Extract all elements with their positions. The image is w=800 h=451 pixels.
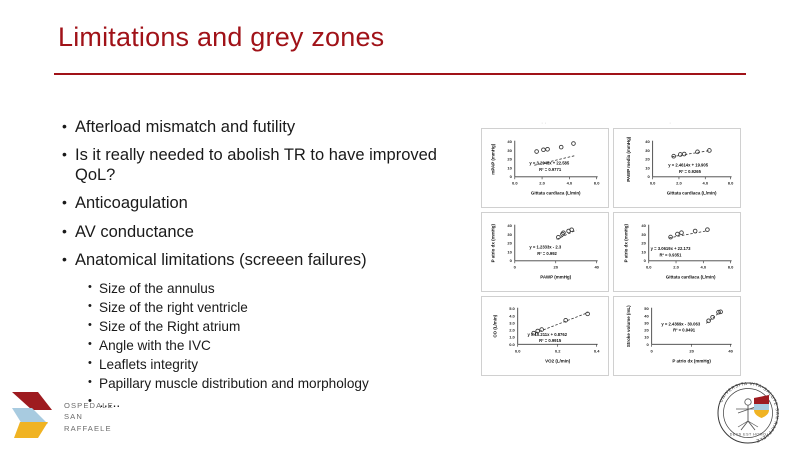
sub-list-item: • Leaflets integrity <box>88 356 462 374</box>
chart-panel-sv-vs-pad: 50 40 30 20 10 0 0 20 40 <box>613 296 741 376</box>
r-squared-label: R² = 0.992 <box>537 251 557 256</box>
sub-bullet-dot-icon: • <box>88 337 99 352</box>
y-tick: 40 <box>644 313 649 318</box>
y-tick: 30 <box>507 148 512 153</box>
x-tick: 0 <box>514 265 517 270</box>
chart-svg: 5.0 4.0 3.0 2.0 1.0 0.0 0.0 0.2 0.4 <box>482 297 608 375</box>
sub-list-item: • ….. <box>88 394 462 412</box>
data-points <box>557 228 574 239</box>
y-tick: 20 <box>507 157 512 162</box>
x-axis-ticks: 0.0 2.0 4.0 6.0 <box>650 177 734 186</box>
bullet-text: Anatomical limitations (screeen failures… <box>75 251 462 270</box>
bullet-dot-icon: • <box>62 194 75 212</box>
x-tick: 6.0 <box>728 265 734 270</box>
y-tick: 30 <box>641 232 646 237</box>
bullet-text: Afterload mismatch and futility <box>75 118 462 137</box>
hospital-logo: OSPEDALE SAN RAFFAELE <box>8 386 132 442</box>
sub-list-item: • Papillary muscle distribution and morp… <box>88 375 462 393</box>
chart-svg: 40 30 20 10 0 0.0 2.0 4.0 6.0 <box>614 213 740 291</box>
data-points <box>669 228 710 239</box>
y-axis-label: PAWP media (mmHg) <box>626 136 631 182</box>
chart-panel-mpap-vs-co: 40 30 20 10 0 0.0 2.0 4.0 6.0 <box>481 128 609 208</box>
chart-grid: ·· · 40 30 20 10 0 0.0 2 <box>481 128 743 378</box>
chart-svg: 40 30 20 10 0 0 20 40 <box>482 213 608 291</box>
x-tick: 2.0 <box>673 265 679 270</box>
x-tick: 40 <box>594 265 599 270</box>
y-tick: 40 <box>507 223 512 228</box>
x-tick: 4.0 <box>703 181 709 186</box>
sub-bullet-dot-icon: • <box>88 356 99 371</box>
bullet-text: Anticoagulation <box>75 194 462 213</box>
data-points <box>707 310 723 323</box>
x-tick: 2.0 <box>676 181 682 186</box>
sub-bullet-text: Size of the annulus <box>99 280 215 298</box>
y-tick: 10 <box>507 249 512 254</box>
sub-bullet-text: Angle with the IVC <box>99 337 211 355</box>
y-axis-label: Stroke volume (mL) <box>626 305 631 347</box>
y-tick: 50 <box>644 306 649 311</box>
y-tick: 0 <box>647 342 650 347</box>
cropped-chart-remnant: · <box>669 120 672 127</box>
y-tick: 0.0 <box>509 342 515 347</box>
y-tick: 20 <box>645 157 650 162</box>
y-tick: 3.0 <box>509 320 515 325</box>
sub-bullet-dot-icon: • <box>88 318 99 333</box>
bullet-text: Is it really needed to abolish TR to hav… <box>75 146 462 185</box>
seal-motto: DEUS EST HOMO <box>730 433 767 437</box>
bullet-list: • Afterload mismatch and futility • Is i… <box>62 118 462 413</box>
x-axis-label: Gittata cardiaca (L/min) <box>531 190 581 195</box>
list-item: • Anticoagulation <box>62 194 462 213</box>
chart-panel-pad-vs-co: 40 30 20 10 0 0.0 2.0 4.0 6.0 <box>613 212 741 292</box>
x-tick: 0.0 <box>515 349 521 354</box>
equation-label: y = 3.2948x + 22.585 <box>529 161 569 166</box>
y-axis-label: P atrio dx (mmHg) <box>490 224 495 263</box>
x-axis-ticks: 0 20 40 <box>514 261 600 270</box>
y-axis-ticks: 50 40 30 20 10 0 <box>644 306 649 347</box>
sub-bullet-text: Leaflets integrity <box>99 356 198 374</box>
x-axis-ticks: 0.0 0.2 0.4 <box>515 344 600 353</box>
sub-bullet-list: • Size of the annulus • Size of the righ… <box>88 280 462 413</box>
sub-list-item: • Size of the annulus <box>88 280 462 298</box>
trendline <box>672 151 709 157</box>
title-divider <box>54 73 746 75</box>
data-points <box>535 142 576 154</box>
x-tick: 0.2 <box>555 349 561 354</box>
chart-panel-co-vs-vo2: 5.0 4.0 3.0 2.0 1.0 0.0 0.0 0.2 0.4 <box>481 296 609 376</box>
y-tick: 1.0 <box>509 335 515 340</box>
y-tick: 40 <box>641 223 646 228</box>
sub-list-item: • Size of the Right atrium <box>88 318 462 336</box>
y-axis-label: CO (L/min) <box>492 314 497 337</box>
chart-svg: 40 30 20 10 0 0.0 2.0 4.0 6.0 <box>614 129 740 207</box>
y-tick: 0 <box>510 174 513 179</box>
y-tick: 20 <box>644 328 649 333</box>
x-axis-label: PAWP (mmHg) <box>540 274 571 279</box>
x-axis-ticks: 0.0 2.0 4.0 6.0 <box>512 177 600 186</box>
university-seal-logo: UNIVERSITA VITA-SALUTE SAN RAFFAELE DEUS… <box>712 380 784 446</box>
list-item: • Afterload mismatch and futility <box>62 118 462 137</box>
x-tick: 2.0 <box>539 181 545 186</box>
x-tick: 0.0 <box>650 181 656 186</box>
y-axis-label: P atrio dx (mmHg) <box>623 224 628 263</box>
hospital-logo-line2: SAN RAFFAELE <box>64 411 132 434</box>
equation-label: y = 2.4614x + 19.905 <box>668 163 708 168</box>
x-tick: 0.0 <box>512 181 518 186</box>
page-title: Limitations and grey zones <box>58 22 384 53</box>
x-axis-label: Gittata cardiaca (L/min) <box>667 190 717 195</box>
y-axis-ticks: 40 30 20 10 0 <box>645 139 650 179</box>
y-axis-label: mPAP (mmHg) <box>490 143 495 174</box>
y-tick: 4.0 <box>509 313 515 318</box>
x-axis-label: P atrio dx (mmHg) <box>672 358 711 363</box>
y-axis-ticks: 40 30 20 10 0 <box>641 223 646 263</box>
chart-svg: 50 40 30 20 10 0 0 20 40 <box>614 297 740 375</box>
chart-panel-pad-vs-pawp: 40 30 20 10 0 0 20 40 <box>481 212 609 292</box>
y-tick: 20 <box>641 241 646 246</box>
sub-bullet-text: Papillary muscle distribution and morpho… <box>99 375 369 393</box>
x-tick: 20 <box>554 265 559 270</box>
chart-panel-pawp-vs-co: 40 30 20 10 0 0.0 2.0 4.0 6.0 <box>613 128 741 208</box>
university-seal-icon: UNIVERSITA VITA-SALUTE SAN RAFFAELE DEUS… <box>712 380 784 446</box>
equation-label: y = 1.2333x - 2.3 <box>529 245 561 250</box>
list-item: • AV conductance <box>62 223 462 242</box>
bullet-text: AV conductance <box>75 223 462 242</box>
y-tick: 5.0 <box>509 306 515 311</box>
x-tick: 6.0 <box>728 181 734 186</box>
y-tick: 10 <box>644 335 649 340</box>
x-tick: 6.0 <box>594 181 600 186</box>
r-squared-label: R² = 0.9915 <box>539 338 562 343</box>
sub-bullet-text: Size of the right ventricle <box>99 299 248 317</box>
y-axis-ticks: 40 30 20 10 0 <box>507 139 512 179</box>
y-tick: 0 <box>647 174 650 179</box>
trendline <box>669 231 707 238</box>
list-item: • Is it really needed to abolish TR to h… <box>62 146 462 185</box>
y-tick: 0 <box>510 258 513 263</box>
x-tick: 0.0 <box>646 265 652 270</box>
y-tick: 30 <box>507 232 512 237</box>
chart-svg: 40 30 20 10 0 0.0 2.0 4.0 6.0 <box>482 129 608 207</box>
bullet-dot-icon: • <box>62 223 75 241</box>
x-axis-label: Gittata cardiaca (L/min) <box>666 274 716 279</box>
x-axis-ticks: 0.0 2.0 4.0 6.0 <box>646 261 734 270</box>
x-axis-ticks: 0 20 40 <box>651 344 734 353</box>
cropped-chart-remnant: ·· <box>541 120 548 127</box>
x-tick: 0 <box>651 349 654 354</box>
x-tick: 0.4 <box>594 349 600 354</box>
sub-list-item: • Size of the right ventricle <box>88 299 462 317</box>
y-tick: 2.0 <box>509 328 515 333</box>
x-tick: 4.0 <box>567 181 573 186</box>
bullet-dot-icon: • <box>62 251 75 269</box>
sub-list-item: • Angle with the IVC <box>88 337 462 355</box>
y-tick: 40 <box>507 139 512 144</box>
sub-bullet-dot-icon: • <box>88 299 99 314</box>
y-tick: 30 <box>644 320 649 325</box>
y-tick: 30 <box>645 148 650 153</box>
equation-label: y = 10.211x + 0.8762 <box>527 332 567 337</box>
r-squared-label: R² = 0.9265 <box>679 169 702 174</box>
bullet-dot-icon: • <box>62 146 75 164</box>
y-tick: 10 <box>645 165 650 170</box>
equation-label: y = 2.4369x - 30.063 <box>661 321 700 326</box>
y-axis-ticks: 5.0 4.0 3.0 2.0 1.0 0.0 <box>509 306 515 347</box>
hospital-logo-line1: OSPEDALE <box>64 400 132 411</box>
x-tick: 40 <box>728 349 733 354</box>
sub-bullet-text: Size of the Right atrium <box>99 318 240 336</box>
y-tick: 40 <box>645 139 650 144</box>
y-tick: 0 <box>644 258 647 263</box>
y-tick: 10 <box>641 249 646 254</box>
equation-label: y = 3.0619x + 22.173 <box>651 246 691 251</box>
x-tick: 20 <box>689 349 694 354</box>
r-squared-label: R² = 0.9351 <box>659 252 682 257</box>
sub-bullet-dot-icon: • <box>88 280 99 295</box>
y-tick: 10 <box>507 165 512 170</box>
slide-canvas: Limitations and grey zones • Afterload m… <box>0 0 800 450</box>
hospital-logo-text: OSPEDALE SAN RAFFAELE <box>64 400 132 434</box>
r-squared-label: R² = 0.9771 <box>539 167 562 172</box>
y-tick: 20 <box>507 241 512 246</box>
r-squared-label: R² = 0.9491 <box>673 328 696 333</box>
x-tick: 4.0 <box>701 265 707 270</box>
bullet-dot-icon: • <box>62 118 75 136</box>
x-axis-label: VO2 (L/min) <box>545 358 571 363</box>
y-axis-ticks: 40 30 20 10 0 <box>507 223 512 263</box>
list-item: • Anatomical limitations (screeen failur… <box>62 251 462 270</box>
